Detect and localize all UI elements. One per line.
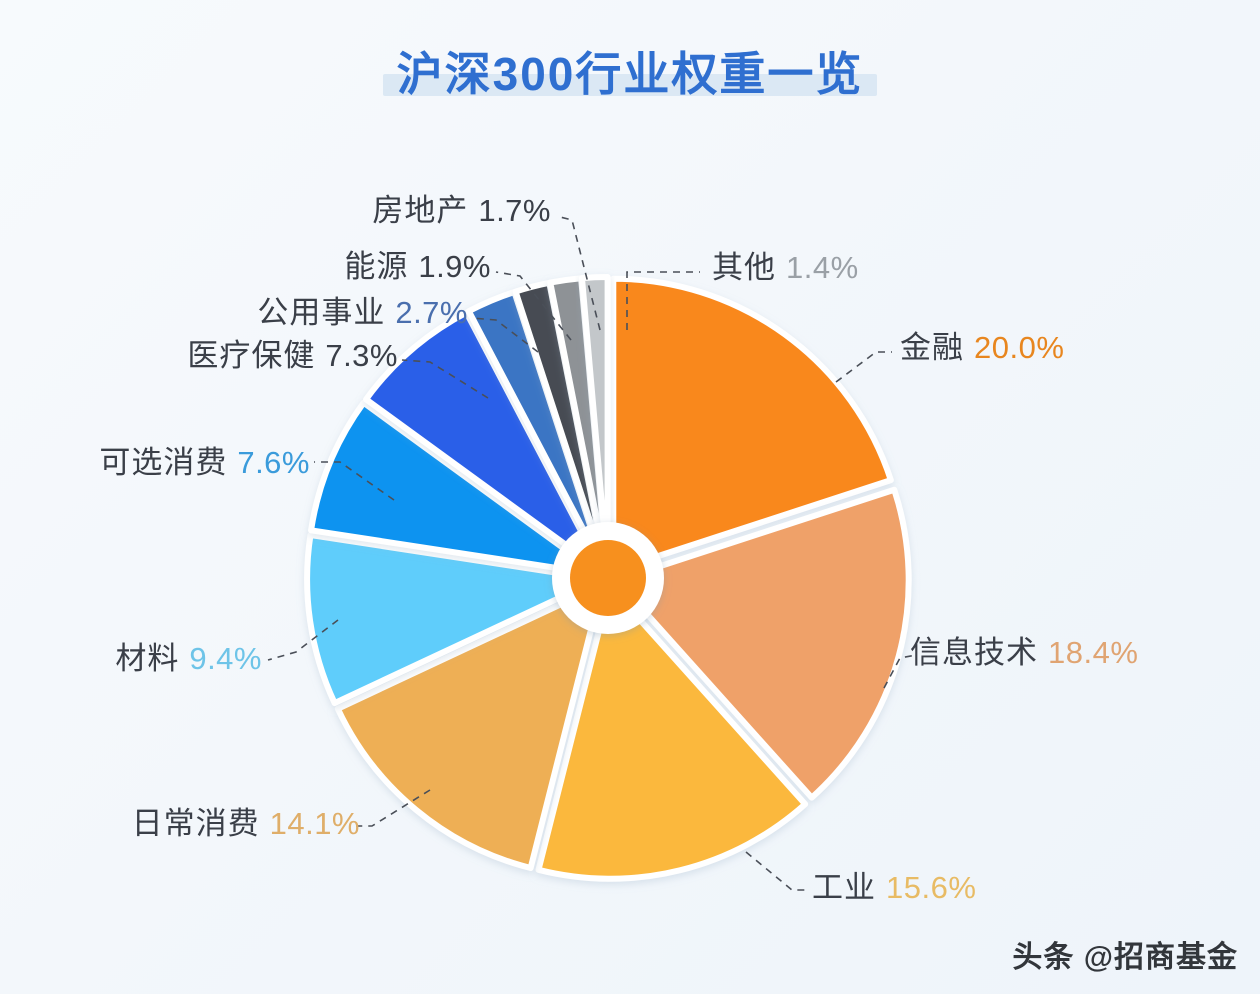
pie-label: 工业15.6% [812, 872, 976, 903]
pie-label: 日常消费14.1% [132, 808, 360, 839]
pie-label-name: 可选消费 [99, 445, 227, 480]
pie-label-name: 日常消费 [132, 806, 260, 841]
pie-label-value: 7.3% [325, 338, 398, 373]
pie-label-value: 2.7% [395, 295, 468, 330]
pie-chart [0, 0, 1260, 994]
leader-line [836, 352, 892, 382]
pie-label: 可选消费7.6% [99, 447, 310, 478]
pie-label-name: 金融 [900, 330, 964, 365]
pie-label: 医疗保健7.3% [187, 340, 398, 371]
pie-label-value: 9.4% [189, 641, 262, 676]
pie-label: 金融20.0% [900, 332, 1064, 363]
pie-label-name: 工业 [812, 870, 876, 905]
leader-line [746, 852, 806, 890]
pie-label-value: 14.1% [270, 806, 360, 841]
pie-center-hub [552, 522, 664, 634]
pie-label: 材料9.4% [115, 643, 262, 674]
pie-label: 信息技术18.4% [910, 637, 1138, 668]
pie-label-name: 房地产 [372, 193, 468, 228]
pie-label-value: 1.9% [418, 249, 491, 284]
pie-label-name: 信息技术 [910, 635, 1038, 670]
pie-label-name: 公用事业 [257, 295, 385, 330]
chart-canvas: 沪深300行业权重一览 金融20.0%信息技术18.4%工业15.6%日常消费1… [0, 0, 1260, 994]
pie-label-value: 20.0% [974, 330, 1064, 365]
watermark: 头条 @招商基金 [1012, 932, 1238, 976]
pie-label-value: 1.7% [478, 193, 551, 228]
pie-label-value: 18.4% [1048, 635, 1138, 670]
pie-label-name: 医疗保健 [187, 338, 315, 373]
pie-label-value: 15.6% [886, 870, 976, 905]
pie-label-value: 1.4% [786, 250, 859, 285]
hub-center-dot [570, 540, 646, 616]
pie-label: 能源1.9% [344, 251, 491, 282]
pie-label: 公用事业2.7% [257, 297, 468, 328]
pie-label-name: 其他 [712, 250, 776, 285]
pie-label-name: 能源 [344, 249, 408, 284]
pie-label: 房地产1.7% [372, 195, 551, 226]
pie-label: 其他1.4% [712, 252, 859, 283]
pie-label-name: 材料 [115, 641, 179, 676]
pie-label-value: 7.6% [237, 445, 310, 480]
